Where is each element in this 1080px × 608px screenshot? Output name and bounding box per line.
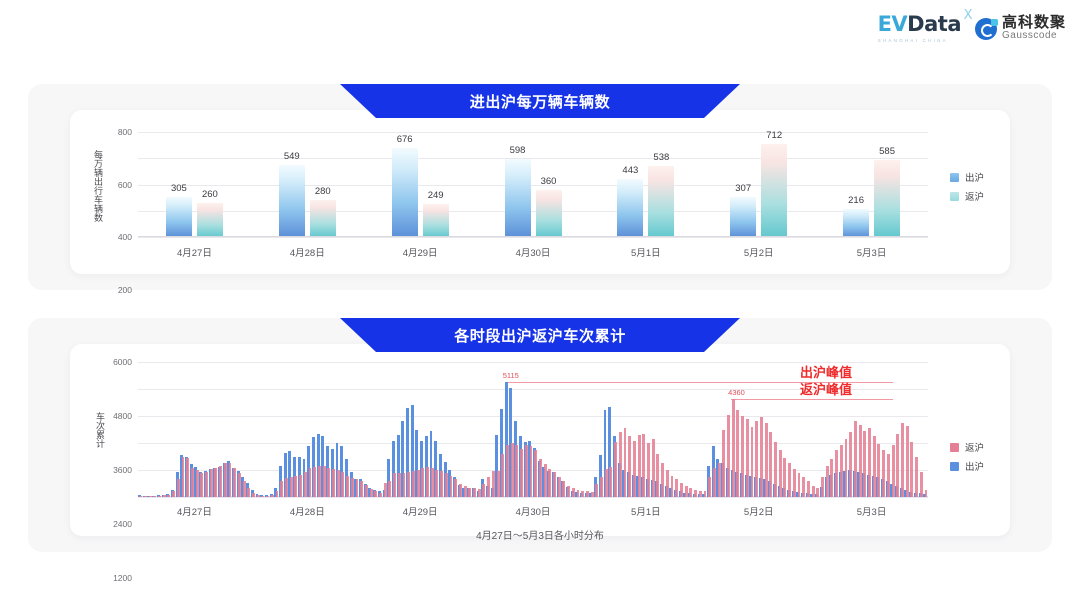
chart2-bar-return <box>229 463 232 497</box>
chart2-bar-return <box>219 466 222 498</box>
chart1-legend-label: 返沪 <box>965 189 984 203</box>
chart2-bar-return <box>374 491 377 497</box>
chart1-x-tick: 5月3日 <box>857 245 887 259</box>
chart2-bar-return <box>337 470 340 497</box>
logo-group: EVDataX SHANGHAI CHINA 高科数聚 Gausscode <box>878 14 1066 43</box>
chart2-bar-return <box>285 478 288 497</box>
chart2-bar-return <box>783 458 786 497</box>
chart2-bar-return <box>901 423 904 497</box>
chart1-x-tick: 4月30日 <box>516 245 551 259</box>
chart2-bar-return <box>515 445 518 497</box>
chart2-bar-return <box>468 488 471 497</box>
chart2-bar-return <box>605 469 608 497</box>
evdata-logo-tagline: SHANGHAI CHINA <box>878 38 948 43</box>
chart2-bar-return <box>426 467 429 497</box>
chart2-bar-return <box>624 428 627 497</box>
chart2-bar-return <box>675 479 678 497</box>
chart2-bar-return <box>642 434 645 497</box>
chart2-bar-return <box>243 481 246 497</box>
chart2-peak-value: 4360 <box>728 388 745 397</box>
chart2-bar-return <box>572 488 575 497</box>
chart2-bar-return <box>149 496 152 497</box>
chart1-bar-value-label: 249 <box>428 190 444 201</box>
chart2-bar-return <box>765 423 768 497</box>
chart2-bar-return <box>323 466 326 497</box>
chart2-x-tick: 5月3日 <box>857 504 887 518</box>
chart1-bar <box>730 197 756 237</box>
chart2-bar-return <box>548 469 551 497</box>
chart2-legend-swatch <box>950 462 959 471</box>
chart2-bar-return <box>257 495 260 497</box>
chart2-bar-return <box>417 470 420 497</box>
chart2-legend: 返沪出沪 <box>950 440 984 473</box>
chart2-bar-return <box>459 484 462 498</box>
chart2-bar-return <box>821 477 824 497</box>
chart1-bar-value-label: 260 <box>202 189 218 200</box>
chart2-bar-return <box>746 419 749 497</box>
chart2-bar-return <box>431 468 434 497</box>
chart1-legend-swatch <box>950 192 959 201</box>
chart2-bar-return <box>802 477 805 497</box>
gausscode-logo-cn: 高科数聚 <box>1002 15 1066 31</box>
chart2-x-tick: 4月27日 <box>177 504 212 518</box>
chart2-bar-return <box>454 479 457 497</box>
chart2-bar-return <box>689 488 692 497</box>
chart1-bar-value-label: 538 <box>653 152 669 163</box>
chart2-bar-return <box>304 472 307 497</box>
chart2-bar-return <box>172 491 175 497</box>
evdata-logo-data: Data <box>907 12 961 36</box>
chart2-bar-return <box>910 442 913 497</box>
chart1-bar <box>536 190 562 237</box>
chart1-bar-value-label: 360 <box>541 176 557 187</box>
chart2-bar-return <box>638 435 641 497</box>
chart1-x-tick: 4月28日 <box>290 245 325 259</box>
chart1-x-tick: 4月27日 <box>177 245 212 259</box>
chart2-bar-return <box>694 490 697 497</box>
chart2-bar-return <box>562 481 565 497</box>
chart2-legend-item[interactable]: 返沪 <box>950 440 984 454</box>
chart1-gridline: 600 <box>138 158 928 159</box>
chart2-bar-return <box>877 444 880 497</box>
chart2-bar-return <box>558 477 561 497</box>
chart2-bar-return <box>271 495 274 497</box>
chart2-bar-return <box>619 432 622 497</box>
chart2-y-axis-label: 车次累计 <box>94 372 107 487</box>
chart2-bar-return <box>186 458 189 497</box>
chart2-bar-return <box>882 450 885 497</box>
chart2-bar-return <box>652 439 655 498</box>
chart1-y-tick: 600 <box>118 180 132 190</box>
chart1-y-axis-label: 每万辆出行车辆数 <box>92 136 105 235</box>
chart2-bar-return <box>609 467 612 497</box>
chart1-bar <box>392 148 418 237</box>
chart2-bar-return <box>685 486 688 497</box>
chart2-bar-return <box>530 446 533 497</box>
chart2-y-tick: 4800 <box>113 411 132 421</box>
chart2-x-tick: 4月28日 <box>290 504 325 518</box>
chart1-bar <box>166 197 192 237</box>
chart2-y-tick: 3600 <box>113 465 132 475</box>
chart2-bar-return <box>581 491 584 497</box>
chart2-bar-return <box>793 469 796 497</box>
chart2-bar-return <box>167 495 170 497</box>
chart2-bar-return <box>854 421 857 498</box>
chart2-bar-return <box>718 463 721 497</box>
chart2-bar-return <box>769 432 772 497</box>
chart2-bar-return <box>567 486 570 497</box>
chart2-bar-return <box>727 415 730 497</box>
chart2-bar-return <box>139 496 142 497</box>
chart2-bar-return <box>600 477 603 497</box>
chart2-bar-return <box>247 488 250 497</box>
chart2-bar-return <box>407 472 410 497</box>
chart2-bar-return <box>906 426 909 497</box>
chart2-bar-return <box>261 496 264 497</box>
chart2-bar-return <box>520 449 523 497</box>
chart2-bar-return <box>830 459 833 497</box>
chart2-bar-return <box>807 481 810 497</box>
chart2-bar-return <box>586 491 589 497</box>
chart-card-1: 02004006008003052604月27日5492804月28日67624… <box>70 110 1010 274</box>
chart2-bar-return <box>365 485 368 497</box>
chart2-bar-return <box>699 491 702 497</box>
chart2-bar-return <box>182 457 185 498</box>
chart2-bar-return <box>205 472 208 497</box>
chart2-bar-return <box>360 481 363 497</box>
chart2-bar-return <box>313 467 316 497</box>
chart2-peak-value: 5115 <box>503 371 519 380</box>
chart2-bar-return <box>370 489 373 497</box>
chart1-legend: 出沪返沪 <box>950 170 984 203</box>
chart1-x-tick: 5月1日 <box>631 245 661 259</box>
chart2-bar-return <box>525 445 528 497</box>
chart2-bar-return <box>760 417 763 497</box>
chart2-bar-return <box>210 469 213 497</box>
chart2-bar-return <box>887 454 890 497</box>
chart1-gridline: 0 <box>138 237 928 238</box>
chart2-bar-return <box>591 492 594 497</box>
chart2-bar-return <box>163 495 166 497</box>
chart2-peak-label: 返沪峰值 <box>800 379 852 398</box>
chart2-bar-return <box>647 443 650 497</box>
chart2-bar-return <box>798 473 801 497</box>
chart2-bar-return <box>327 468 330 497</box>
gausscode-mark-icon <box>975 18 997 40</box>
chart2-bar-return <box>356 479 359 497</box>
chart1-bar-value-label: 712 <box>766 130 782 141</box>
chart2-bar-return <box>812 486 815 497</box>
chart1-bar-value-label: 443 <box>622 165 638 176</box>
chart1-bar-value-label: 549 <box>284 151 300 162</box>
chart2-bar-return <box>290 477 293 497</box>
chart2-bar-return <box>628 436 631 497</box>
chart1-x-axis <box>138 236 928 237</box>
chart2-bar-return <box>892 445 895 497</box>
slide-page: EVDataX SHANGHAI CHINA 高科数聚 Gausscode 02… <box>0 0 1080 608</box>
chart2-bar-return <box>351 478 354 497</box>
chart2-x-axis-caption: 4月27日～5月3日各小时分布 <box>70 527 1010 542</box>
chart2-bar-return <box>214 468 217 497</box>
chart1-bar <box>279 165 305 237</box>
chart-panel-2: 0120024003600480060004月27日4月28日4月29日4月30… <box>28 318 1052 552</box>
chart2-bar-return <box>294 476 297 497</box>
chart2-x-tick: 4月30日 <box>516 504 551 518</box>
chart1-y-tick: 400 <box>118 232 132 242</box>
chart2-bar-return <box>656 454 659 497</box>
chart2-bar-return <box>158 496 161 497</box>
chart1-bar-value-label: 305 <box>171 183 187 194</box>
chart2-legend-label: 出沪 <box>965 459 984 473</box>
chart1-bar <box>874 160 900 237</box>
chart2-bar-return <box>633 441 636 497</box>
chart1-gridline: 800 <box>138 132 928 133</box>
chart2-bar-return <box>840 445 843 497</box>
evdata-logo: EVDataX SHANGHAI CHINA <box>878 14 961 43</box>
chart2-bar-return <box>346 476 349 497</box>
chart2-bar-return <box>464 486 467 497</box>
chart2-bar-return <box>238 473 241 497</box>
chart2-bar-return <box>388 481 391 497</box>
chart2-bar-return <box>835 450 838 497</box>
chart1-x-tick: 4月29日 <box>403 245 438 259</box>
chart2-bar-return <box>577 490 580 497</box>
chart1-gridline: 400 <box>138 185 928 186</box>
chart2-title-banner: 各时段出沪返沪车次累计 <box>340 318 740 352</box>
chart2-bar-return <box>473 488 476 497</box>
chart2-gridline: 3600 <box>138 416 928 417</box>
chart2-bar-return <box>421 468 424 497</box>
chart2-bar-return <box>751 427 754 497</box>
chart1-legend-item[interactable]: 出沪 <box>950 170 984 184</box>
chart2-bar-return <box>868 428 871 497</box>
chart2-bar-return <box>276 491 279 497</box>
chart2-bar-return <box>487 477 490 497</box>
chart2-legend-label: 返沪 <box>965 440 984 454</box>
chart1-bar-value-label: 280 <box>315 186 331 197</box>
chart2-x-tick: 4月29日 <box>403 504 438 518</box>
evdata-logo-ev: EV <box>878 12 908 36</box>
chart2-y-tick: 6000 <box>113 357 132 367</box>
chart2-bar-return <box>299 475 302 498</box>
chart2-bar-return <box>661 463 664 497</box>
chart2-legend-item[interactable]: 出沪 <box>950 459 984 473</box>
chart2-bar-return <box>177 479 180 497</box>
chart1-x-tick: 5月2日 <box>744 245 774 259</box>
gausscode-logo: 高科数聚 Gausscode <box>975 15 1066 41</box>
chart1-bar <box>648 166 674 237</box>
chart2-bar-return <box>196 470 199 497</box>
chart2-bar-return <box>920 472 923 497</box>
chart2-bar-return <box>412 471 415 497</box>
chart1-bar <box>761 144 787 237</box>
chart1-y-tick: 800 <box>118 127 132 137</box>
chart2-bar-return <box>492 471 495 497</box>
chart2-gridline: 0 <box>138 497 928 498</box>
hourly-chart-plot-area: 0120024003600480060004月27日4月28日4月29日4月30… <box>138 362 928 497</box>
chart1-title-banner: 进出沪每万辆车辆数 <box>340 84 740 118</box>
gausscode-logo-en: Gausscode <box>1002 31 1066 42</box>
gausscode-logo-text: 高科数聚 Gausscode <box>1002 15 1066 41</box>
chart1-bar <box>197 203 223 237</box>
chart1-legend-item[interactable]: 返沪 <box>950 189 984 203</box>
chart2-peak-line <box>731 399 894 400</box>
chart2-bar-return <box>826 466 829 498</box>
chart2-bar-return <box>435 470 438 497</box>
chart2-bar-return <box>863 431 866 497</box>
chart2-gridline: 2400 <box>138 443 928 444</box>
chart2-bar-return <box>280 481 283 497</box>
chart2-bar-return <box>896 434 899 497</box>
chart2-bar-return <box>680 483 683 497</box>
chart2-bar-return <box>816 488 819 497</box>
chart2-bar-return <box>788 463 791 497</box>
chart1-bar <box>505 159 531 237</box>
evdata-logo-superscript: X <box>964 9 972 22</box>
chart2-bar-return <box>915 457 918 498</box>
chart2-bar-return <box>534 450 537 497</box>
chart2-bar-return <box>497 471 500 497</box>
chart1-y-tick: 200 <box>118 285 132 295</box>
chart2-bar-return <box>595 484 598 498</box>
chart2-bar-return <box>553 472 556 497</box>
chart2-y-tick: 1200 <box>113 573 132 583</box>
chart1-bar-value-label: 598 <box>510 145 526 156</box>
chart2-bar-return <box>774 442 777 497</box>
chart2-bar-return <box>506 445 509 497</box>
chart-card-2: 0120024003600480060004月27日4月28日4月29日4月30… <box>70 344 1010 536</box>
chart2-bar-return <box>144 496 147 497</box>
evdata-logo-wordmark: EVDataX <box>878 14 961 35</box>
chart2-bar-return <box>318 466 321 498</box>
chart2-bar-return <box>713 468 716 497</box>
chart2-bar-return <box>736 410 739 497</box>
chart1-legend-label: 出沪 <box>965 170 984 184</box>
chart2-bar-return <box>252 493 255 498</box>
chart2-bar-return <box>722 430 725 498</box>
chart2-bar-return <box>445 473 448 497</box>
chart2-bar-return <box>501 454 504 497</box>
chart2-bar-return <box>450 476 453 497</box>
chart2-bar-return <box>849 432 852 497</box>
chart2-bar-return <box>233 468 236 497</box>
chart2-bar-return <box>440 471 443 497</box>
chart2-bar-return <box>755 421 758 498</box>
chart2-x-tick: 5月2日 <box>744 504 774 518</box>
chart2-bar-return <box>873 436 876 497</box>
chart2-bar-return <box>845 439 848 498</box>
chart2-bar-return <box>925 490 928 497</box>
chart2-x-tick: 5月1日 <box>631 504 661 518</box>
chart1-bar <box>617 179 643 237</box>
chart2-bar-return <box>666 470 669 497</box>
chart2-bar-return <box>341 472 344 497</box>
chart1-bar-value-label: 585 <box>879 146 895 157</box>
chart2-bar-return <box>708 477 711 497</box>
chart2-bar-return <box>478 489 481 497</box>
chart2-bar-return <box>671 476 674 497</box>
chart1-bar-value-label: 216 <box>848 195 864 206</box>
chart2-bar-return <box>224 463 227 497</box>
chart2-bar-return <box>614 442 617 497</box>
chart2-bar-return <box>544 464 547 497</box>
chart1-bar-value-label: 307 <box>735 183 751 194</box>
chart2-bar-return <box>511 443 514 497</box>
chart2-bar-return <box>153 496 156 497</box>
chart1-legend-swatch <box>950 173 959 182</box>
chart2-bar-return <box>398 473 401 497</box>
chart2-bar-return <box>482 484 485 498</box>
chart2-bar-return <box>266 496 269 497</box>
chart2-bar-return <box>191 468 194 497</box>
chart2-bar-return <box>200 473 203 497</box>
chart2-bar-return <box>779 450 782 497</box>
chart2-bar-return <box>732 399 735 497</box>
chart2-bar-return <box>309 468 312 497</box>
chart2-bar-return <box>704 491 707 497</box>
chart2-bar-return <box>379 493 382 498</box>
chart1-bar-value-label: 676 <box>397 134 413 145</box>
chart1-gridline: 200 <box>138 211 928 212</box>
chart1-bar <box>843 209 869 237</box>
chart2-bar-return <box>393 473 396 497</box>
chart2-bar-return <box>384 483 387 497</box>
page-header: EVDataX SHANGHAI CHINA 高科数聚 Gausscode <box>0 0 1080 62</box>
chart2-bar-return <box>859 425 862 497</box>
chart1-bar <box>423 204 449 237</box>
chart2-bar-return <box>403 473 406 497</box>
bar-chart-plot-area: 02004006008003052604月27日5492804月28日67624… <box>138 132 928 237</box>
chart2-bar-return <box>332 469 335 497</box>
chart1-bar <box>310 200 336 237</box>
chart2-bar-return <box>741 416 744 497</box>
chart2-bar-return <box>539 459 542 497</box>
chart2-legend-swatch <box>950 443 959 452</box>
